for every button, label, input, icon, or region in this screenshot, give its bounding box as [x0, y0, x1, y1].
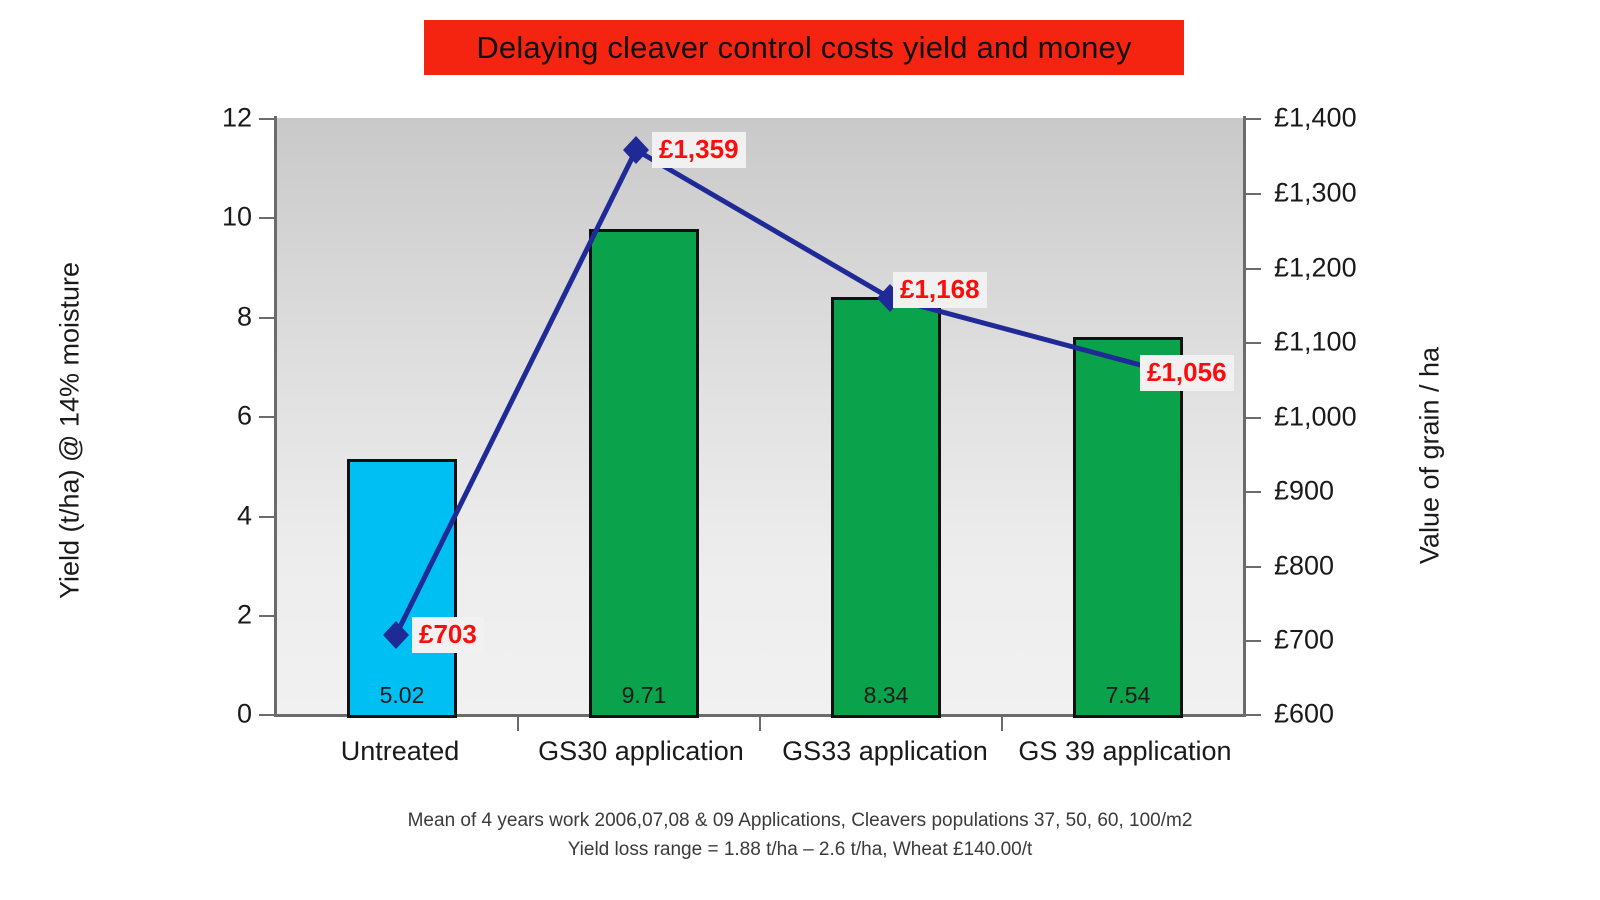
bar-value-gs33: 8.34 [864, 682, 909, 709]
value-label-untreated: £703 [412, 617, 484, 653]
right-tick-1100 [1244, 342, 1261, 344]
left-tick-10 [259, 217, 276, 219]
right-tick-1300 [1244, 193, 1261, 195]
right-tick-700 [1244, 640, 1261, 642]
right-axis-label-700: £700 [1274, 625, 1334, 656]
chart-title-banner: Delaying cleaver control costs yield and… [424, 20, 1184, 75]
right-axis-label-1300: £1,300 [1274, 178, 1357, 209]
left-tick-12 [259, 118, 276, 120]
right-tick-600 [1244, 714, 1261, 716]
right-axis-title: Value of grain / ha [1415, 226, 1446, 686]
right-axis-label-1000: £1,000 [1274, 402, 1357, 433]
bar-untreated[interactable]: 5.02 [347, 459, 457, 718]
bar-gs33[interactable]: 8.34 [831, 297, 941, 718]
value-label-gs39: £1,056 [1140, 355, 1234, 391]
right-axis-label-800: £800 [1274, 551, 1334, 582]
right-tick-1200 [1244, 268, 1261, 270]
left-tick-8 [259, 317, 276, 319]
right-axis-label-1200: £1,200 [1274, 253, 1357, 284]
chart-root: Delaying cleaver control costs yield and… [0, 0, 1600, 900]
left-axis-label-4: 4 [237, 501, 252, 532]
right-tick-900 [1244, 491, 1261, 493]
left-axis-label-6: 6 [237, 401, 252, 432]
footnote-line-1: Mean of 4 years work 2006,07,08 & 09 App… [0, 806, 1600, 835]
x-tick-1 [517, 715, 519, 731]
left-tick-2 [259, 615, 276, 617]
left-axis-label-0: 0 [237, 699, 252, 730]
left-axis-label-10: 10 [222, 202, 252, 233]
category-label-gs39: GS 39 application [1018, 736, 1231, 767]
value-label-gs30: £1,359 [652, 132, 746, 168]
right-tick-1400 [1244, 118, 1261, 120]
x-tick-2 [759, 715, 761, 731]
chart-footnotes: Mean of 4 years work 2006,07,08 & 09 App… [0, 806, 1600, 864]
left-axis-label-12: 12 [222, 103, 252, 134]
left-axis-label-2: 2 [237, 600, 252, 631]
x-tick-3 [1001, 715, 1003, 731]
left-tick-0 [259, 714, 276, 716]
left-axis-title: Yield (t/ha) @ 14% moisture [55, 201, 86, 661]
left-axis-label-8: 8 [237, 302, 252, 333]
right-axis-label-900: £900 [1274, 476, 1334, 507]
bar-value-gs30: 9.71 [622, 682, 667, 709]
category-label-untreated: Untreated [341, 736, 460, 767]
value-label-gs33: £1,168 [893, 272, 987, 308]
category-label-gs33: GS33 application [782, 736, 988, 767]
bar-gs30[interactable]: 9.71 [589, 229, 699, 718]
bar-value-untreated: 5.02 [380, 682, 425, 709]
right-axis-label-1400: £1,400 [1274, 103, 1357, 134]
category-label-gs30: GS30 application [538, 736, 744, 767]
bar-gs39[interactable]: 7.54 [1073, 337, 1183, 718]
bar-value-gs39: 7.54 [1106, 682, 1151, 709]
chart-title: Delaying cleaver control costs yield and… [476, 30, 1131, 66]
left-tick-4 [259, 516, 276, 518]
right-tick-800 [1244, 566, 1261, 568]
right-axis-label-1100: £1,100 [1274, 327, 1357, 358]
left-tick-6 [259, 416, 276, 418]
right-tick-1000 [1244, 417, 1261, 419]
right-axis-label-600: £600 [1274, 699, 1334, 730]
footnote-line-2: Yield loss range = 1.88 t/ha – 2.6 t/ha,… [0, 835, 1600, 864]
